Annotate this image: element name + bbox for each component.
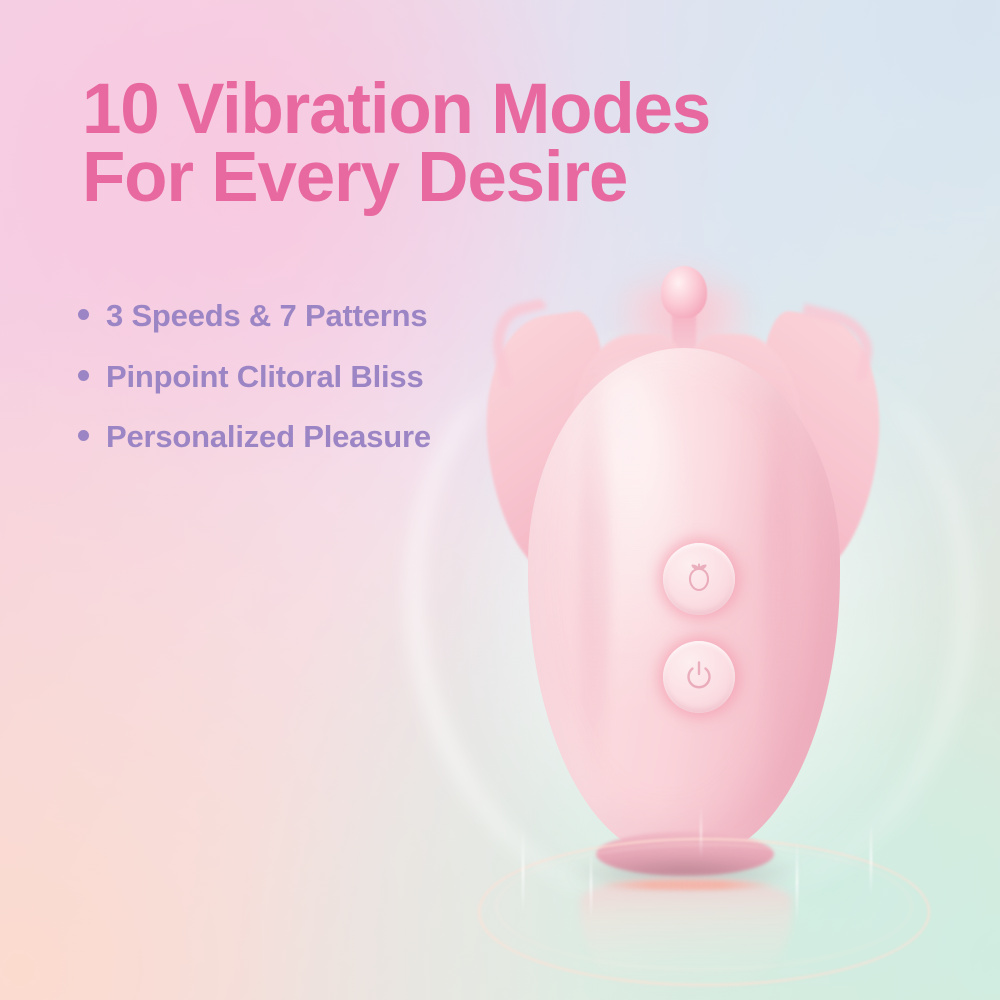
sparkle-streak xyxy=(870,822,872,896)
power-icon xyxy=(684,659,714,696)
sparkle-streak xyxy=(522,826,524,916)
stamen-tip xyxy=(661,266,707,318)
product-feature-banner: 10 Vibration Modes For Every Desire 3 Sp… xyxy=(0,0,1000,1000)
feature-text: Personalized Pleasure xyxy=(106,421,431,454)
feature-text: 3 Speeds & 7 Patterns xyxy=(106,300,427,333)
power-button[interactable] xyxy=(663,641,735,713)
mode-button[interactable] xyxy=(663,543,735,615)
sparkle-streak xyxy=(700,806,702,858)
product-image xyxy=(400,230,1000,970)
bullet-dot-icon xyxy=(78,370,89,381)
bullet-dot-icon xyxy=(78,430,89,441)
body-highlight xyxy=(584,370,676,670)
headline: 10 Vibration Modes For Every Desire xyxy=(82,76,782,212)
feature-text: Pinpoint Clitoral Bliss xyxy=(106,361,423,394)
rose-flower-icon xyxy=(684,560,714,599)
stage-ring-inner xyxy=(496,844,912,970)
body-seam xyxy=(764,368,794,798)
sparkle-streak xyxy=(590,850,592,920)
sparkle-streak xyxy=(796,840,798,924)
bullet-dot-icon xyxy=(78,309,89,320)
